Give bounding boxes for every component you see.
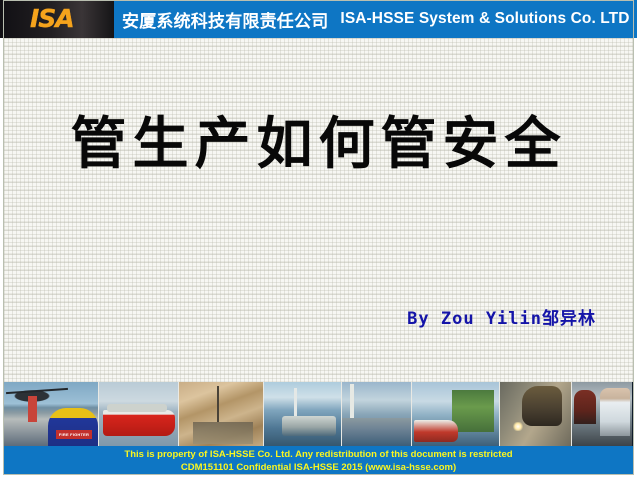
slide-footer: This is property of ISA-HSSE Co. Ltd. An… [4,446,633,474]
author-byline: By Zou Yilin邹异林 [0,304,596,329]
footer-confidential-line: CDM151101 Confidential ISA-HSSE 2015 (ww… [181,461,456,474]
header-title-group: 安厦系统科技有限责任公司 ISA-HSSE System & Solutions… [122,0,632,38]
worker-figure [28,396,37,422]
footer-website-link[interactable]: www.isa-hsse.com [368,462,453,473]
presentation-slide: ISA 安厦系统科技有限责任公司 ISA-HSSE System & Solut… [0,0,637,477]
fire-fighter-label: FIRE FIGHTER [56,430,92,439]
footer-copyright-line: This is property of ISA-HSSE Co. Ltd. An… [124,448,512,461]
desert-drilling-rig-photo [179,382,264,446]
offshore-platform-aerial-photo [264,382,342,446]
green-platform-supply-vessel-photo [412,382,500,446]
red-cargo-ship-photo [99,382,179,446]
logo-band: ISA [0,0,114,38]
slide-background-texture [4,38,633,383]
office-workers-photo [572,382,632,446]
company-name-cn: 安厦系统科技有限责任公司 [122,7,328,32]
company-name-en: ISA-HSSE System & Solutions Co. LTD [340,10,629,28]
footer-doc-id: CDM151101 Confidential ISA-HSSE 2015 ( [181,462,368,473]
offshore-rig-vessel-photo [342,382,412,446]
footer-paren-close: ) [453,462,456,473]
slide-header: ISA 安厦系统科技有限责任公司 ISA-HSSE System & Solut… [0,0,637,38]
isa-logo-icon: ISA [30,6,102,32]
welder-at-work-photo [500,382,572,446]
helicopter-firefighter-photo: FIRE FIGHTER [4,382,99,446]
slide-main-title: 管生产如何管安全 [0,108,637,180]
photo-strip: FIRE FIGHTER [4,382,633,446]
